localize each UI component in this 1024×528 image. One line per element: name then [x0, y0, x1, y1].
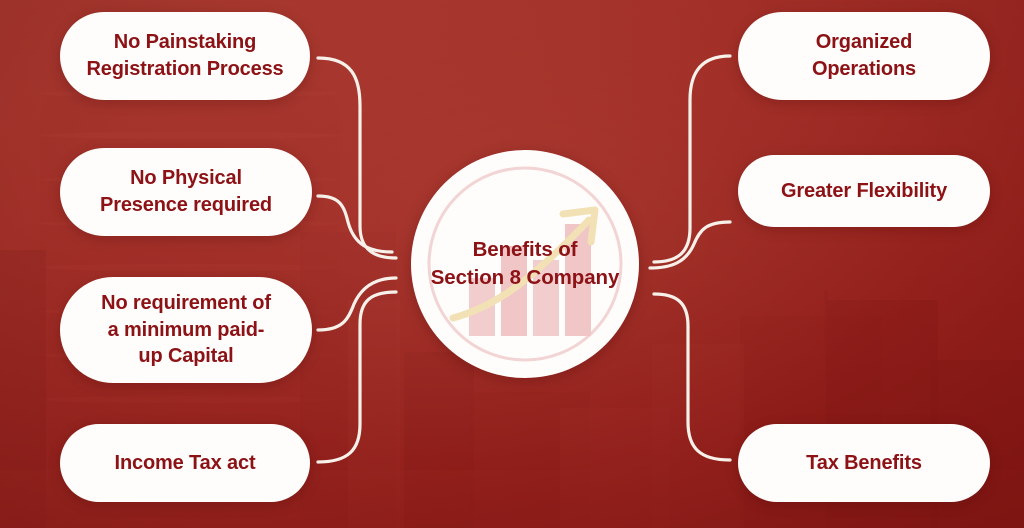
- node-line: Tax Benefits: [806, 450, 922, 477]
- infographic-canvas: Benefits of Section 8 Company No Painsta…: [0, 0, 1024, 528]
- node-line: No Painstaking: [86, 29, 283, 56]
- node-line: Registration Process: [86, 56, 283, 83]
- benefit-node-label: Tax Benefits: [806, 450, 922, 477]
- node-line: Presence required: [100, 192, 272, 219]
- node-line: up Capital: [101, 343, 271, 370]
- benefit-node-label: Income Tax act: [115, 450, 256, 477]
- node-line: No requirement of: [101, 290, 271, 317]
- node-line: Organized: [812, 29, 916, 56]
- center-title-line-1: Benefits of: [431, 236, 620, 264]
- center-title-line-2: Section 8 Company: [431, 264, 620, 292]
- benefit-node-tax-benefits[interactable]: Tax Benefits: [738, 424, 990, 502]
- center-hub-title: Benefits of Section 8 Company: [427, 236, 624, 293]
- benefit-node-label: No requirement of a minimum paid- up Cap…: [101, 290, 271, 370]
- benefit-node-no-physical-presence-required[interactable]: No Physical Presence required: [60, 148, 312, 236]
- benefit-node-no-painstaking-registration-process[interactable]: No Painstaking Registration Process: [60, 12, 310, 100]
- benefit-node-label: No Painstaking Registration Process: [86, 29, 283, 82]
- benefit-node-label: No Physical Presence required: [100, 165, 272, 218]
- benefit-node-income-tax-act[interactable]: Income Tax act: [60, 424, 310, 502]
- node-line: Operations: [812, 56, 916, 83]
- node-line: No Physical: [100, 165, 272, 192]
- benefit-node-greater-flexibility[interactable]: Greater Flexibility: [738, 155, 990, 227]
- node-line: Greater Flexibility: [781, 178, 947, 205]
- node-line: a minimum paid-: [101, 317, 271, 344]
- benefit-node-organized-operations[interactable]: Organized Operations: [738, 12, 990, 100]
- center-hub[interactable]: Benefits of Section 8 Company: [411, 150, 639, 378]
- node-line: Income Tax act: [115, 450, 256, 477]
- benefit-node-label: Organized Operations: [812, 29, 916, 82]
- benefit-node-no-minimum-paid-up-capital[interactable]: No requirement of a minimum paid- up Cap…: [60, 277, 312, 383]
- benefit-node-label: Greater Flexibility: [781, 178, 947, 205]
